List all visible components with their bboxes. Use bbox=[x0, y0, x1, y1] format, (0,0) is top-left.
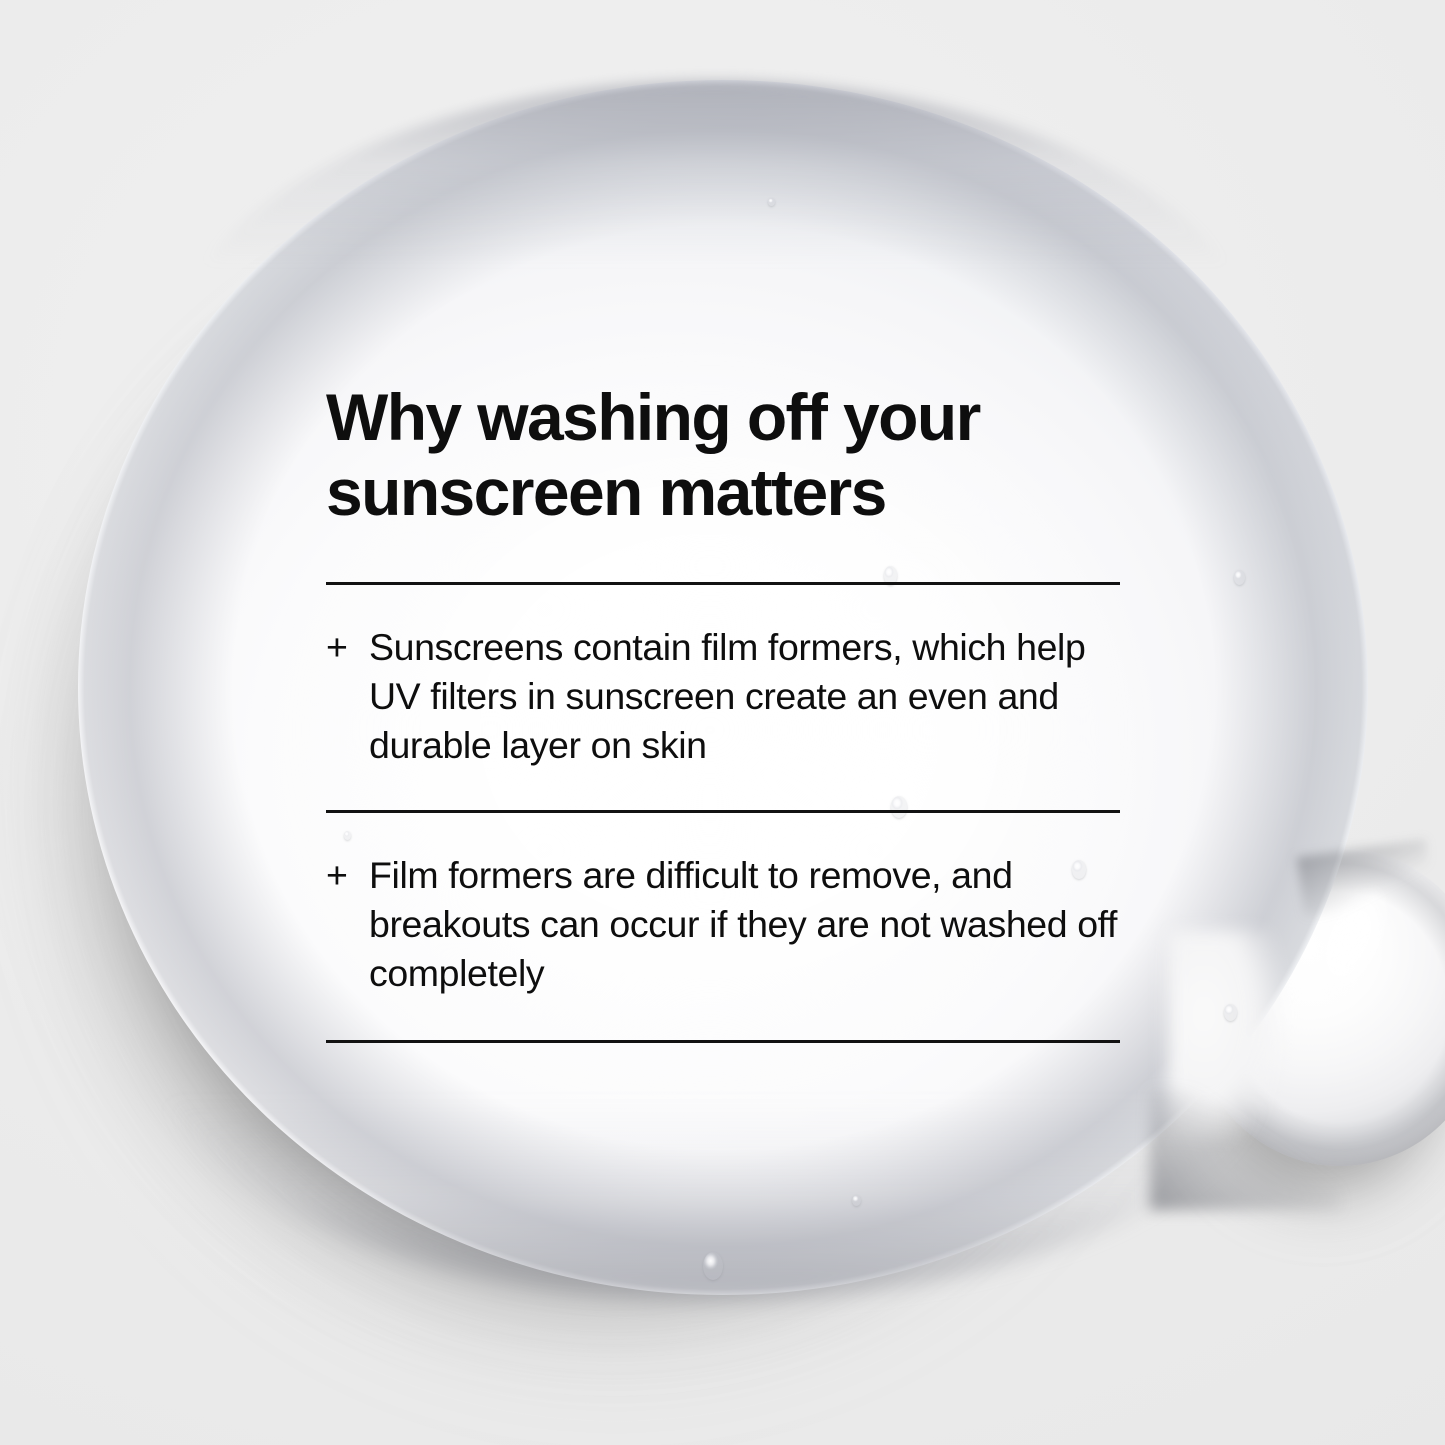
list-item-text: Film formers are difficult to remove, an… bbox=[369, 851, 1120, 998]
page-title: Why washing off your sunscreen matters bbox=[326, 380, 1120, 529]
info-card: Why washing off your sunscreen matters +… bbox=[326, 380, 1120, 1043]
droplet-merge-edge-bottom bbox=[1150, 1090, 1340, 1210]
divider-bottom bbox=[326, 1040, 1120, 1043]
micro-bubble bbox=[852, 1195, 861, 1206]
list-item-text: Sunscreens contain film formers, which h… bbox=[369, 623, 1120, 770]
list-item: + Sunscreens contain film formers, which… bbox=[326, 585, 1120, 810]
plus-icon: + bbox=[326, 623, 369, 672]
micro-bubble bbox=[768, 198, 775, 206]
micro-bubble bbox=[1224, 1004, 1237, 1021]
product-graphic-scene: Why washing off your sunscreen matters +… bbox=[0, 0, 1445, 1445]
micro-bubble bbox=[1234, 570, 1245, 585]
micro-bubble bbox=[703, 1252, 723, 1280]
plus-icon: + bbox=[326, 851, 369, 900]
list-item: + Film formers are difficult to remove, … bbox=[326, 813, 1120, 1040]
